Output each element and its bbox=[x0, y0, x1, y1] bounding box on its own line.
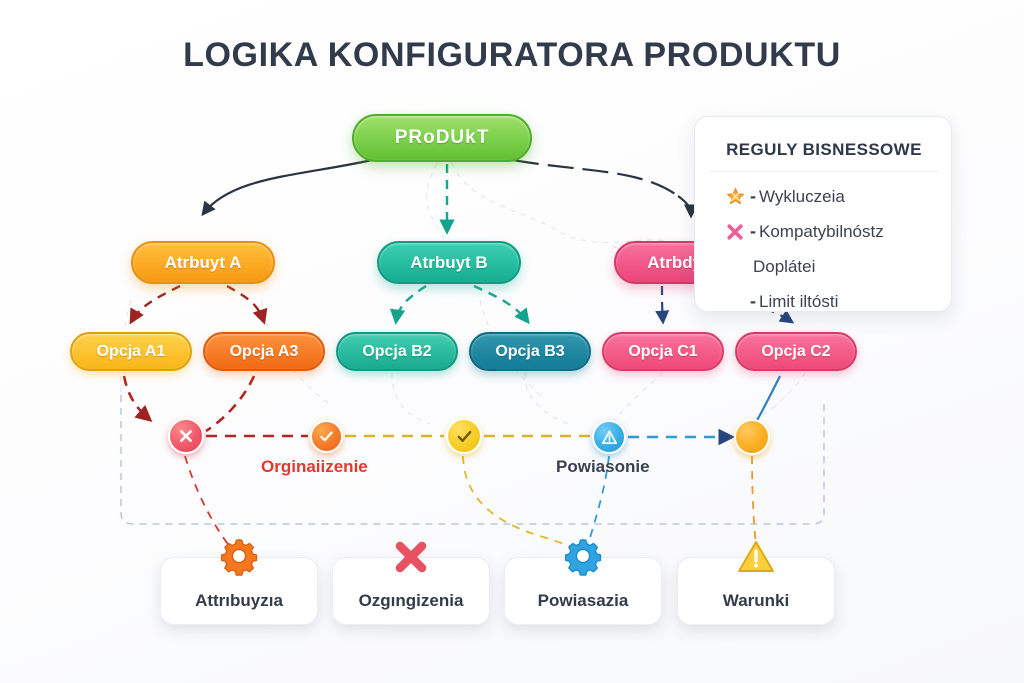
card-ograniczenia[interactable]: Ozgıngizenia bbox=[332, 557, 490, 625]
legend-dash-1: - bbox=[750, 186, 756, 207]
card-atrybuty-label: Attrıbuyzıa bbox=[195, 591, 283, 611]
legend-label-limit-iltosti: Limit iltósti bbox=[759, 292, 838, 312]
edge-attr-a-to-opcja-a3 bbox=[227, 286, 264, 322]
legend-item-list: - Wykluczeia - Kompatybilnóstz Doplátei bbox=[721, 179, 951, 319]
node-attribute-a[interactable]: Atrbuyt A bbox=[131, 241, 275, 284]
warning-icon bbox=[733, 534, 779, 580]
legend-dash-2: - bbox=[750, 221, 756, 242]
edge-opcja-c2-to-dot bbox=[756, 376, 780, 422]
legend-icon-placeholder-3 bbox=[721, 256, 749, 278]
edge-attr-a-to-opcja-a1 bbox=[131, 286, 180, 322]
node-option-b2[interactable]: Opcja B2 bbox=[336, 332, 458, 371]
edge-product-to-attr-c bbox=[513, 160, 678, 196]
legend-label-doplatei: Doplátei bbox=[753, 257, 815, 277]
gear-blue-icon bbox=[560, 534, 606, 580]
compatibility-check-yellow-icon[interactable] bbox=[446, 418, 482, 454]
node-option-c2-label: Opcja C2 bbox=[761, 343, 830, 361]
node-option-c1[interactable]: Opcja C1 bbox=[602, 332, 724, 371]
legend-panel: REGULY BISNESSOWE - Wykluczeia bbox=[694, 116, 952, 312]
node-option-c1-label: Opcja C1 bbox=[628, 343, 697, 361]
node-option-b3-label: Opcja B3 bbox=[495, 343, 564, 361]
card-ograniczenia-label: Ozgıngizenia bbox=[359, 591, 464, 611]
warning-triangle-icon[interactable] bbox=[592, 420, 626, 454]
edge-attr-b-to-opcja-b3 bbox=[474, 286, 528, 322]
node-option-a3-label: Opcja A3 bbox=[230, 343, 299, 361]
page-title: LOGIKA KONFIGURATORA PRODUKTU bbox=[0, 36, 1024, 75]
group-boundary bbox=[121, 395, 824, 524]
edge-attr-b-to-opcja-b2 bbox=[396, 286, 426, 322]
x-icon bbox=[721, 221, 749, 243]
card-powiasazia-label: Powiasazia bbox=[538, 591, 629, 611]
edge-product-to-attr-a bbox=[203, 160, 372, 214]
node-option-c2[interactable]: Opcja C2 bbox=[735, 332, 857, 371]
card-atrybuty[interactable]: Attrıbuyzıa bbox=[160, 557, 318, 625]
card-warunki-label: Warunki bbox=[723, 591, 789, 611]
edge-opcja-a1-to-exclusion bbox=[124, 376, 150, 420]
node-option-b3[interactable]: Opcja B3 bbox=[469, 332, 591, 371]
node-option-b2-label: Opcja B2 bbox=[362, 343, 431, 361]
node-attribute-b-label: Atrbuyt B bbox=[410, 253, 487, 273]
legend-title: REGULY BISNESSOWE bbox=[695, 140, 953, 160]
card-warunki[interactable]: Warunki bbox=[677, 557, 835, 625]
rule-label-right: Powiasonie bbox=[556, 457, 650, 477]
x-red-icon bbox=[388, 534, 434, 580]
node-attribute-b[interactable]: Atrbuyt B bbox=[377, 241, 521, 284]
legend-label-wykluczeia: Wykluczeia bbox=[759, 187, 845, 207]
surcharge-dot-icon[interactable] bbox=[734, 419, 770, 455]
legend-divider bbox=[709, 171, 939, 172]
node-product-label: PRoDUkT bbox=[395, 127, 490, 149]
legend-dash-4: - bbox=[750, 291, 756, 312]
legend-item-wykluczeia[interactable]: - Wykluczeia bbox=[721, 179, 951, 214]
card-powiasazia[interactable]: Powiasazia bbox=[504, 557, 662, 625]
node-option-a1[interactable]: Opcja A1 bbox=[70, 332, 192, 371]
legend-item-kompatybilnostz[interactable]: - Kompatybilnóstz bbox=[721, 214, 951, 249]
node-option-a3[interactable]: Opcja A3 bbox=[203, 332, 325, 371]
edge-attr-c-to-opcja-c1 bbox=[662, 286, 663, 322]
legend-item-doplatei[interactable]: Doplátei bbox=[721, 249, 951, 284]
exclusion-x-icon[interactable] bbox=[168, 418, 204, 454]
legend-icon-placeholder-4 bbox=[721, 291, 749, 313]
star-icon bbox=[721, 186, 749, 208]
diagram-canvas: LOGIKA KONFIGURATORA PRODUKTU PRoDUkT At… bbox=[0, 0, 1024, 683]
node-product[interactable]: PRoDUkT bbox=[352, 114, 532, 162]
legend-item-limit-iltosti[interactable]: - Limit iltósti bbox=[721, 284, 951, 319]
node-attribute-a-label: Atrbuyt A bbox=[165, 253, 242, 273]
rule-label-left: Orginaiizenie bbox=[261, 457, 368, 477]
compatibility-check-orange-icon[interactable] bbox=[310, 420, 343, 453]
node-option-a1-label: Opcja A1 bbox=[97, 343, 166, 361]
edge-opcja-a3-to-exclusion bbox=[206, 376, 254, 431]
gear-orange-icon bbox=[216, 534, 262, 580]
legend-label-kompatybilnostz: Kompatybilnóstz bbox=[759, 222, 884, 242]
